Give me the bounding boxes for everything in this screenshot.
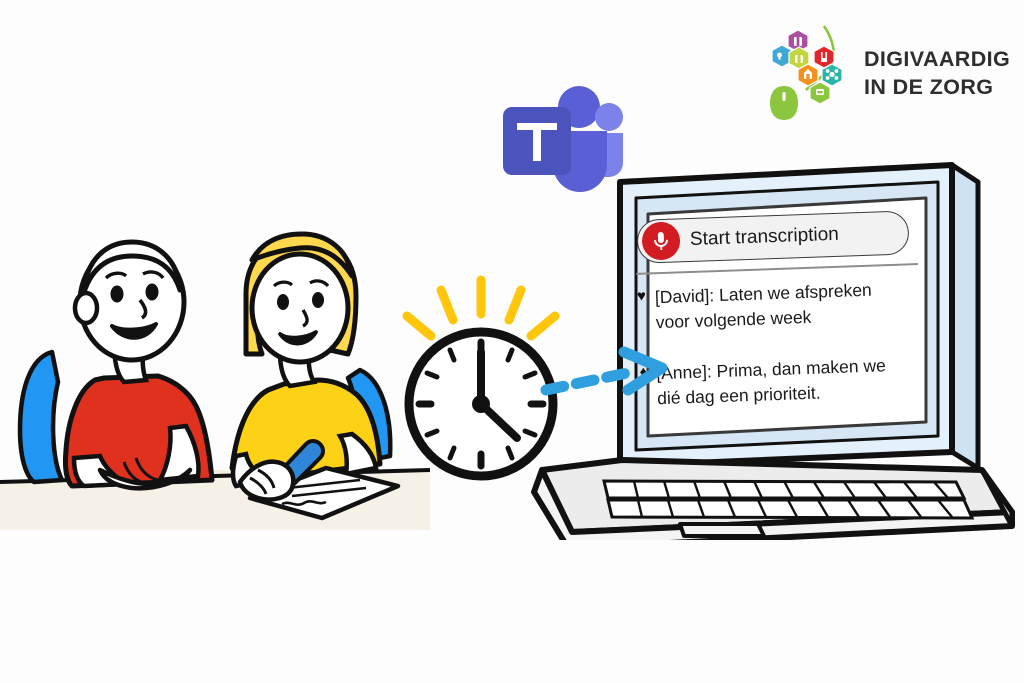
clock-center [472,395,490,413]
start-transcription-label: Start transcription [690,224,840,251]
mouse-icon [770,86,798,120]
man-figure [65,242,212,488]
transcript-line: [David]: Laten we afspreken [655,279,873,307]
transcript-line: [Anne]: Prima, dan maken we [656,355,886,383]
laptop-trackpad [680,524,764,536]
laptop-lid-side [952,165,978,468]
screen-divider [636,263,918,274]
microphone-icon [641,221,680,260]
transcript-entry: ♥ [David]: Laten we afspreken voor volge… [635,275,937,336]
chair-man [20,352,62,482]
woman-eye-right [312,292,324,308]
man-eye-left [111,286,124,303]
woman-head [252,254,348,362]
logo-line-2: IN DE ZORG [864,74,1010,102]
start-transcription-button[interactable]: Start transcription [636,210,909,263]
transcript-text: [David]: Laten we afspreken voor volgend… [654,277,873,335]
laptop-keyboard [604,481,972,518]
woman-eye-left [277,294,289,310]
transcript-line: voor volgende week [655,306,811,331]
brand-logo: DIGIVAARDIG IN DE ZORG [762,22,1018,126]
hexagon-cluster-mouse-logo [762,24,858,124]
people-at-table-illustration [0,230,430,530]
man-eye-right [146,284,159,301]
logo-wordmark: DIGIVAARDIG IN DE ZORG [864,46,1010,101]
heart-bullet: ♥ [637,286,648,336]
dashed-arrow [540,338,690,418]
logo-line-1: DIGIVAARDIG [864,46,1010,74]
man-ear [75,293,97,323]
transcript-text: [Anne]: Prima, dan maken we dié dag een … [656,353,887,411]
illustration-canvas: DIGIVAARDIG IN DE ZORG [0,0,1024,683]
arrow-head [624,352,662,390]
